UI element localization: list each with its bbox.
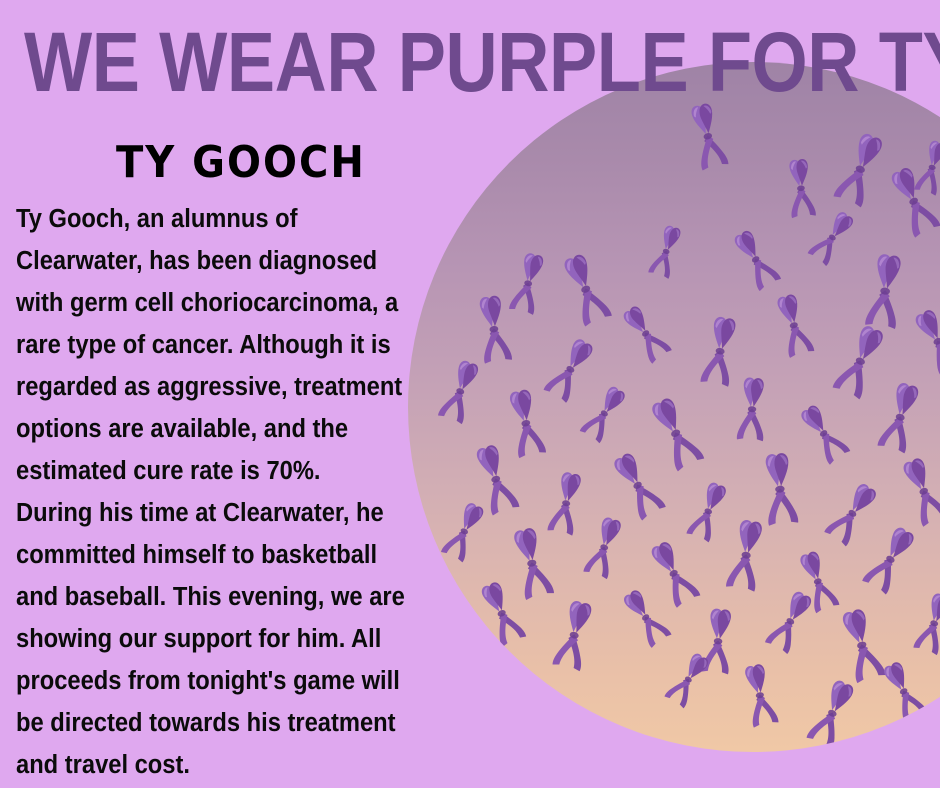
paragraph-1: Ty Gooch, an alumnus of Clearwater, has … [16,198,407,492]
ribbon-circle-image [408,62,940,752]
poster-headline: WE WEAR PURPLE FOR TY [24,24,540,101]
ribbon-artwork-svg [408,62,940,752]
poster-canvas: WE WEAR PURPLE FOR TY TY GOOCH Ty Gooch,… [0,0,940,788]
body-copy-block: Ty Gooch, an alumnus of Clearwater, has … [16,198,407,786]
person-name-heading: TY GOOCH [116,138,366,188]
paragraph-2: During his time at Clearwater, he commit… [16,492,407,786]
